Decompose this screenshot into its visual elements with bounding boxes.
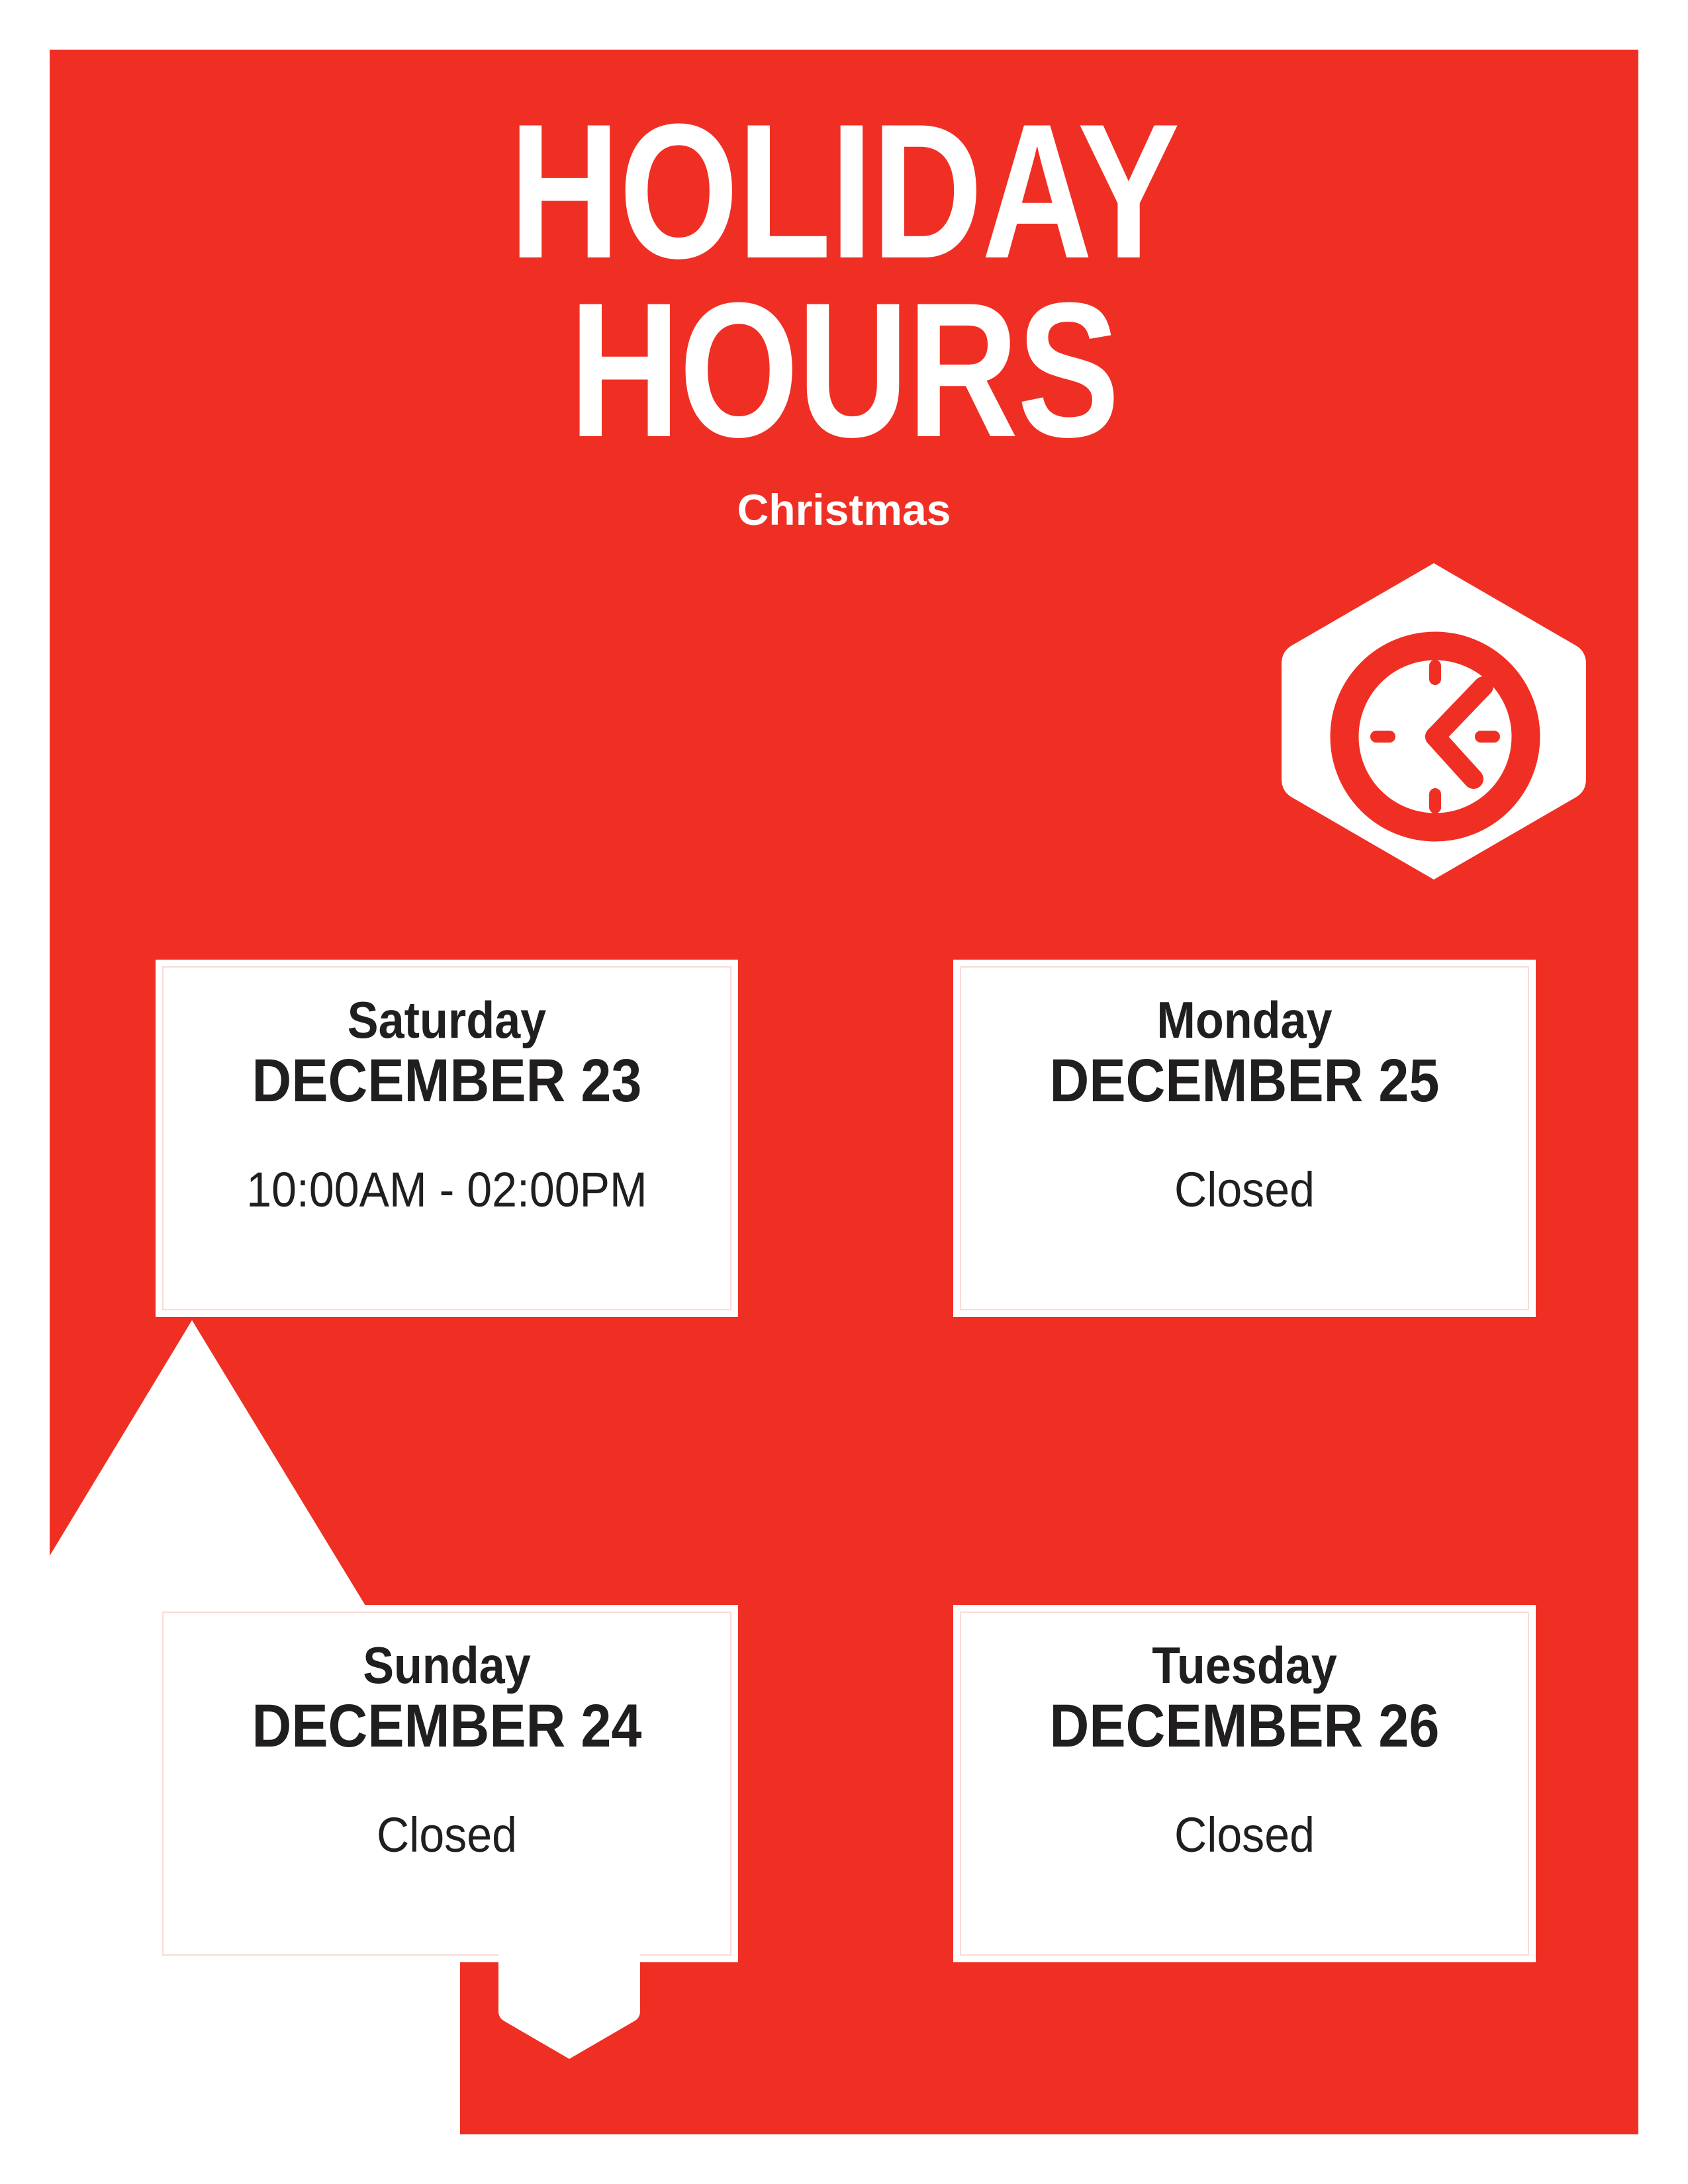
page-title: HOLIDAY HOURS <box>209 50 1479 459</box>
card-weekday: Tuesday <box>1000 1639 1489 1692</box>
holiday-hours-poster: HOLIDAY HOURS Christmas Saturday DECEMBE… <box>0 0 1688 2184</box>
hexagon-shape <box>498 1901 640 2061</box>
card-weekday: Saturday <box>203 994 691 1047</box>
day-card: Monday DECEMBER 25 Closed <box>953 960 1536 1317</box>
card-hours: 10:00AM - 02:00PM <box>197 1163 696 1216</box>
card-date: DECEMBER 26 <box>1000 1692 1489 1760</box>
card-weekday: Sunday <box>203 1639 691 1692</box>
schedule-grid: Saturday DECEMBER 23 10:00AM - 02:00PM M… <box>156 960 1536 1800</box>
card-date: DECEMBER 25 <box>1000 1047 1489 1115</box>
card-weekday: Monday <box>1000 994 1489 1047</box>
card-date: DECEMBER 23 <box>203 1047 691 1115</box>
poster-header: HOLIDAY HOURS Christmas <box>50 50 1638 535</box>
card-hours: Closed <box>995 1163 1494 1216</box>
day-card: Tuesday DECEMBER 26 Closed <box>953 1605 1536 1962</box>
card-hours: Closed <box>197 1808 696 1862</box>
card-date: DECEMBER 24 <box>203 1692 691 1760</box>
day-card: Saturday DECEMBER 23 10:00AM - 02:00PM <box>156 960 738 1317</box>
card-hours: Closed <box>995 1808 1494 1862</box>
day-card: Sunday DECEMBER 24 Closed <box>156 1605 738 1962</box>
clock-icon <box>1282 559 1586 884</box>
